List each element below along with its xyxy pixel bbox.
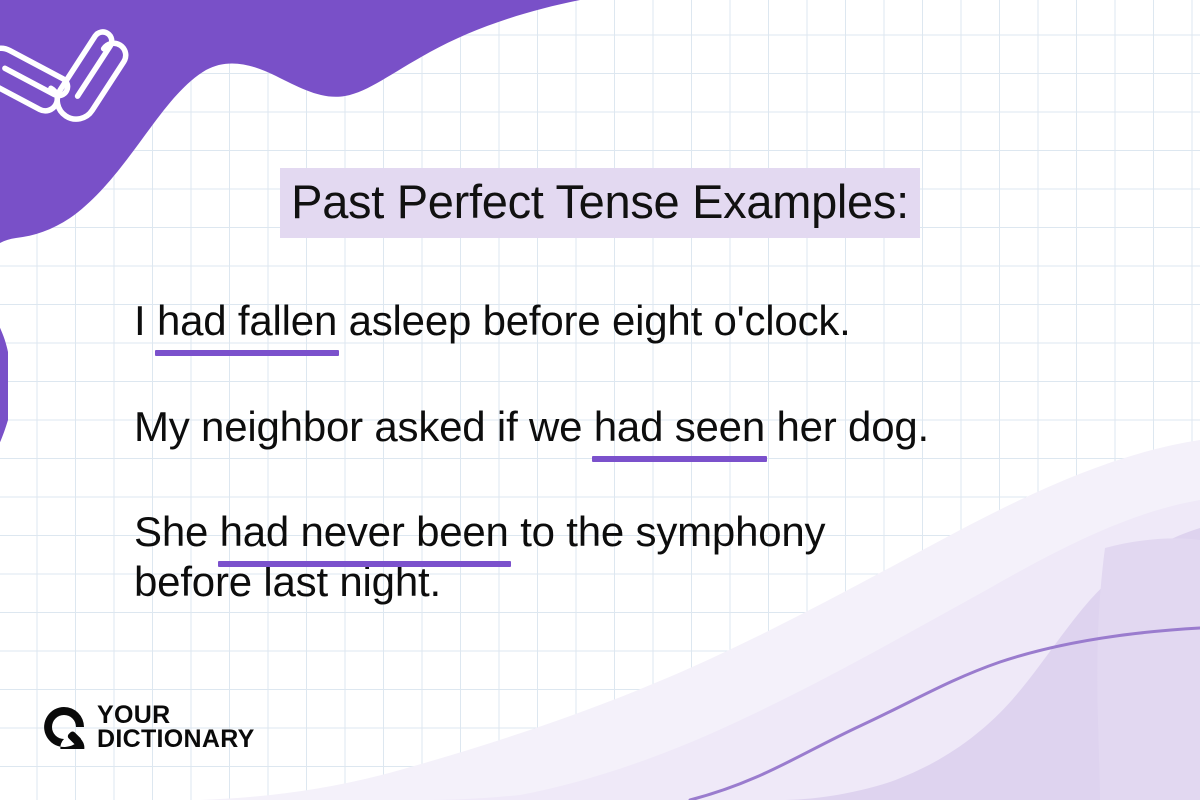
example-sentence-1: I had fallen asleep before eight o'clock…: [134, 296, 1134, 346]
logo-wordmark: YOUR DICTIONARY: [97, 703, 255, 752]
example-3-highlight: had never been: [220, 508, 509, 555]
page-title-container: Past Perfect Tense Examples:: [0, 168, 1200, 238]
page-title: Past Perfect Tense Examples:: [280, 168, 920, 238]
paperclip-icon-lower: [0, 42, 71, 117]
infographic-canvas: Past Perfect Tense Examples: I had falle…: [0, 0, 1200, 800]
example-sentence-3: She had never been to the symphonybefore…: [134, 507, 1134, 606]
example-3-before: She: [134, 508, 220, 555]
yourdictionary-q-mark-icon: [42, 705, 86, 749]
purple-curve-line: [690, 628, 1200, 800]
logo-line-dictionary: DICTIONARY: [97, 727, 255, 751]
example-3-after: to the symphony: [509, 508, 826, 555]
brand-logo: YOUR DICTIONARY: [42, 703, 255, 752]
example-2-highlight: had seen: [594, 403, 765, 450]
example-1-highlight: had fallen: [157, 297, 337, 344]
example-2-before: My neighbor asked if we: [134, 403, 594, 450]
example-1-before: I: [134, 297, 157, 344]
example-2-after: her dog.: [765, 403, 929, 450]
paperclip-icon-upper: [50, 29, 132, 127]
logo-line-your: YOUR: [97, 703, 255, 727]
examples-list: I had fallen asleep before eight o'clock…: [134, 296, 1134, 606]
example-1-after: asleep before eight o'clock.: [337, 297, 851, 344]
example-sentence-2: My neighbor asked if we had seen her dog…: [134, 402, 1134, 452]
